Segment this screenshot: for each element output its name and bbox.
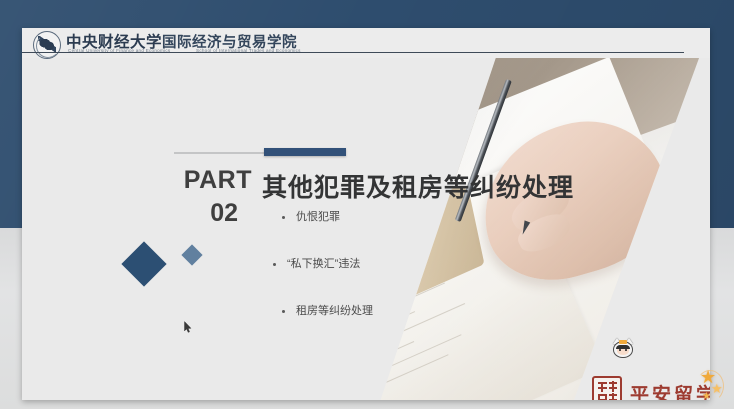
bullet-dot-icon [282,216,285,219]
bullet-text: “私下换汇”违法 [287,259,360,270]
slide-title: 其他犯罪及租房等纠纷处理 [262,168,574,204]
slide-header: 中央财经大学国际经济与贸易学院 Central University of Fi… [22,28,710,58]
presentation-slide[interactable]: 中央财经大学国际经济与贸易学院 Central University of Fi… [22,28,710,400]
mouse-cursor-icon [184,321,192,333]
list-item: 仇恨犯罪 [268,212,498,223]
diamond-large-decoration [121,241,166,286]
title-thin-rule [174,152,269,154]
title-accent-bar [264,148,346,156]
bullet-text: 仇恨犯罪 [296,212,340,223]
bullet-text: 租房等纠纷处理 [296,306,373,317]
part-label: PART [132,168,252,193]
slide-bullet-list: 仇恨犯罪 “私下换汇”违法 租房等纠纷处理 [268,212,498,353]
bullet-dot-icon [273,263,276,266]
cufe-emblem-icon [33,31,61,59]
red-seal-stamp-icon [592,376,622,400]
diamond-small-decoration [181,244,202,265]
list-item: “私下换汇”违法 [268,259,498,270]
part-indicator: PART 02 [132,168,252,226]
cat-hood-emoji-sticker-icon [612,338,634,359]
screen: 中央财经大学国际经济与贸易学院 Central University of Fi… [0,0,734,409]
bullet-dot-icon [282,310,285,313]
part-number: 02 [132,201,238,226]
star-sparkle-sticker-icon: ★ ★ ★ [700,368,734,409]
header-divider [22,52,684,53]
list-item: 租房等纠纷处理 [268,306,498,317]
